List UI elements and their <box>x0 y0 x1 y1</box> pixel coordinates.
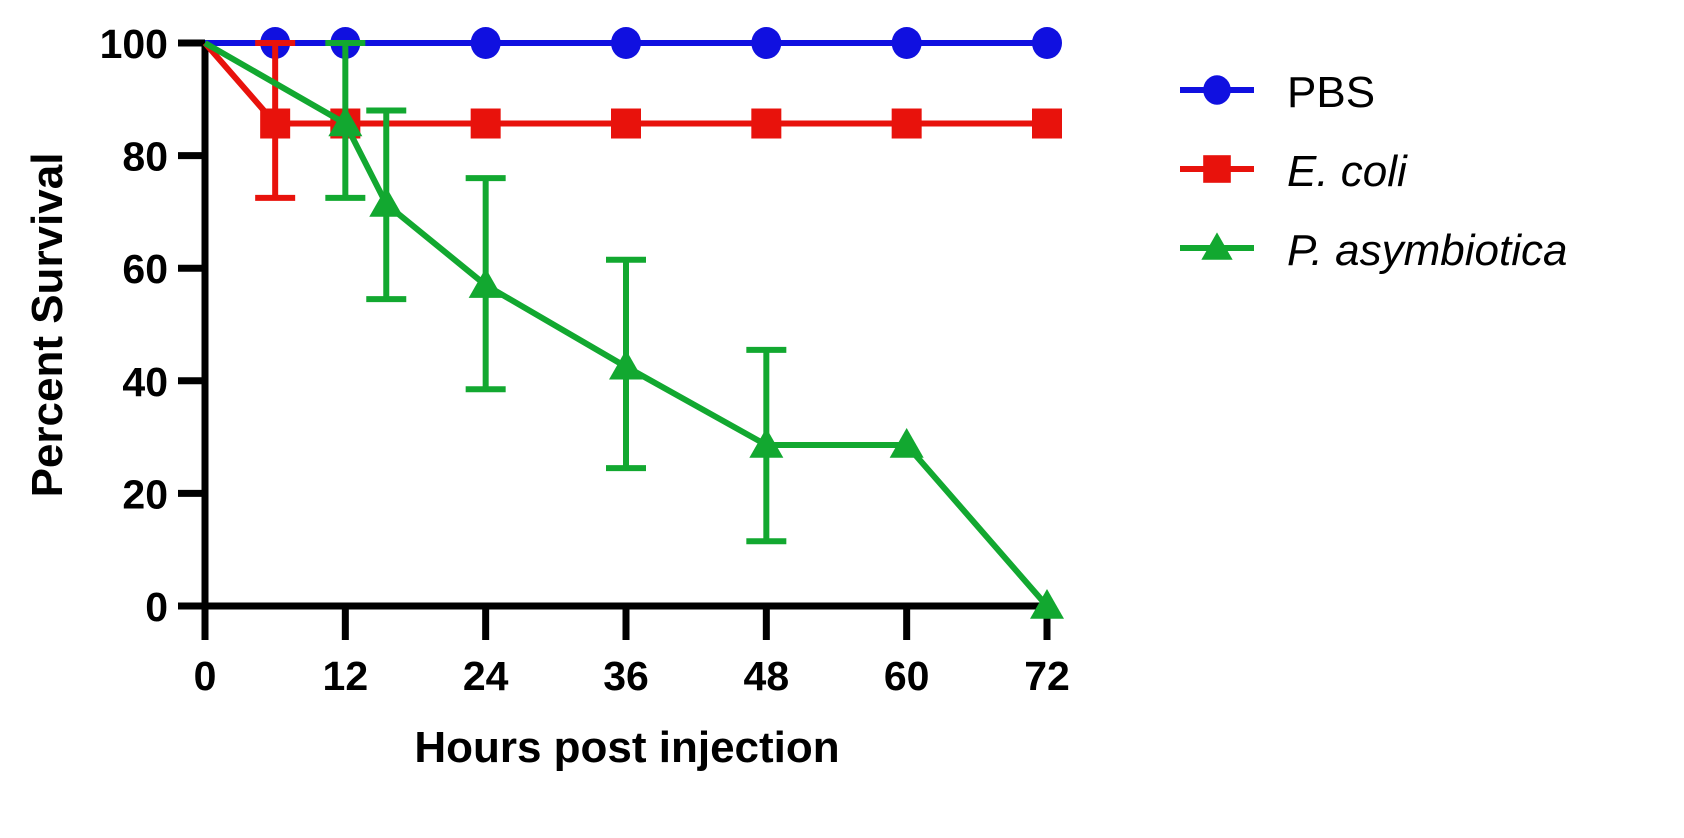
y-axis-title: Percent Survival <box>23 153 72 498</box>
marker-circle <box>611 27 641 59</box>
legend-label: E. coli <box>1287 147 1408 196</box>
marker-square <box>892 109 922 139</box>
marker-triangle <box>369 187 403 217</box>
y-ticklabel-60: 60 <box>122 246 168 292</box>
series-layer <box>205 27 1064 619</box>
x-ticklabel-36: 36 <box>603 653 649 699</box>
marker-triangle <box>609 350 643 380</box>
legend: PBSE. coliP. asymbiotica <box>1180 68 1567 275</box>
marker-circle <box>892 27 922 59</box>
x-ticklabel-48: 48 <box>744 653 790 699</box>
x-ticklabel-12: 12 <box>323 653 369 699</box>
x-ticklabel-60: 60 <box>884 653 930 699</box>
y-tick-group <box>178 43 205 606</box>
y-ticklabel-20: 20 <box>122 471 168 517</box>
x-ticklabel-0: 0 <box>194 653 217 699</box>
marker-square <box>611 109 641 139</box>
marker-circle <box>1203 75 1231 104</box>
marker-square <box>1203 155 1231 183</box>
y-ticklabel-80: 80 <box>122 134 168 180</box>
x-axis-title: Hours post injection <box>414 723 839 772</box>
x-ticklabel-24: 24 <box>463 653 509 699</box>
marker-circle <box>471 27 501 59</box>
chart-canvas: 020406080100 0122436486072 Percent Survi… <box>0 0 1684 838</box>
marker-square <box>260 109 290 139</box>
y-ticklabel-40: 40 <box>122 359 168 405</box>
legend-item-e-coli[interactable]: E. coli <box>1180 147 1408 196</box>
marker-square <box>471 109 501 139</box>
x-tick-group <box>205 606 1047 640</box>
y-ticklabel-group: 020406080100 <box>100 21 168 630</box>
x-ticklabel-72: 72 <box>1024 653 1070 699</box>
legend-label: PBS <box>1287 68 1375 117</box>
legend-label: P. asymbiotica <box>1287 226 1567 275</box>
marker-square <box>1032 109 1062 139</box>
x-ticklabel-group: 0122436486072 <box>194 653 1070 699</box>
marker-square <box>751 109 781 139</box>
y-ticklabel-0: 0 <box>145 584 168 630</box>
legend-item-pbs[interactable]: PBS <box>1180 68 1375 117</box>
legend-item-p-asymbiotica[interactable]: P. asymbiotica <box>1180 226 1567 275</box>
marker-circle <box>751 27 781 59</box>
series-e-coli <box>205 43 1062 198</box>
marker-circle <box>1032 27 1062 59</box>
survival-curve-chart: 020406080100 0122436486072 Percent Survi… <box>0 0 1684 838</box>
y-ticklabel-100: 100 <box>100 21 168 67</box>
